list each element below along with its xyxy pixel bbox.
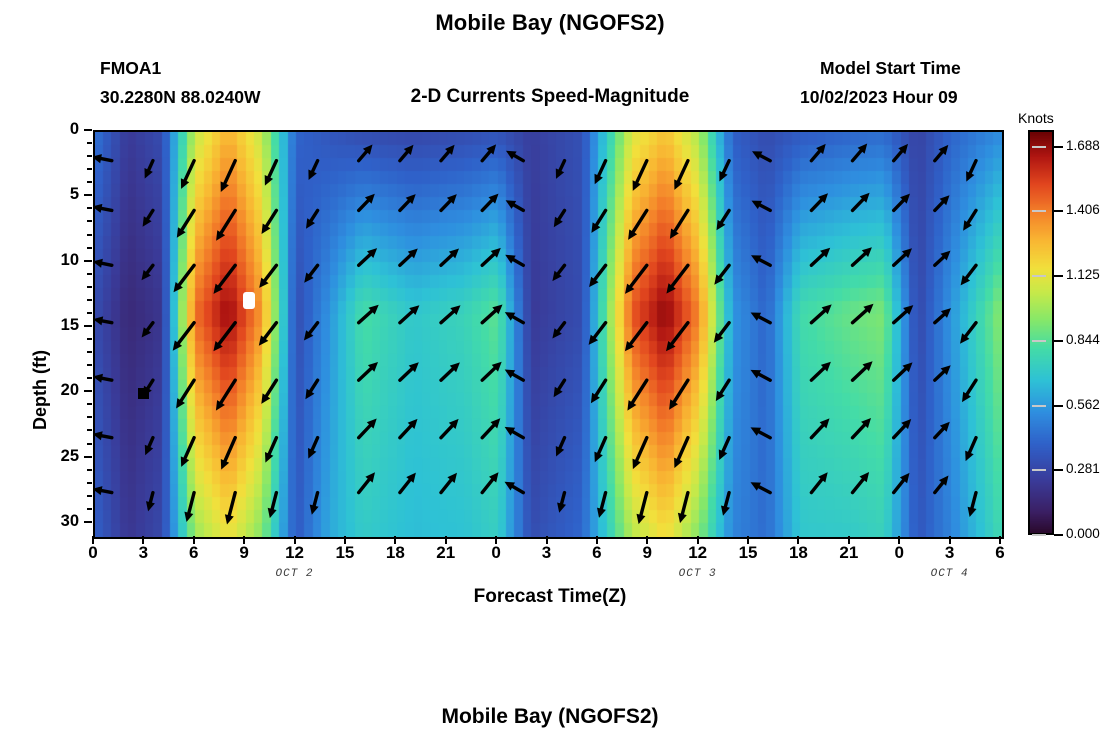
x-tick-label: 21 [426,543,466,563]
colorbar-tick [1054,405,1063,407]
colorbar-units-label: Knots [1018,110,1098,126]
y-tick [87,207,92,209]
y-tick-label: 25 [33,447,79,466]
footer-title: Mobile Bay (NGOFS2) [0,705,1100,729]
colorbar-tick-inner [1032,210,1046,212]
colorbar-tick [1054,275,1063,277]
y-tick [84,194,92,196]
colorbar-tick-label: 0.562 [1066,397,1100,412]
colorbar-tick [1054,210,1063,212]
x-tick-label: 6 [980,543,1020,563]
colorbar-gradient [1028,130,1054,535]
colorbar-tick [1054,340,1063,342]
y-tick-label: 10 [33,251,79,270]
x-tick-label: 9 [627,543,667,563]
current-vector-arrows [95,132,1002,537]
y-tick-label: 5 [33,185,79,204]
x-tick-label: 18 [375,543,415,563]
y-tick [87,338,92,340]
x-tick-label: 21 [829,543,869,563]
x-tick-label: 15 [728,543,768,563]
data-gap-patch [243,292,255,309]
observation-marker [138,388,149,399]
colorbar-tick-inner [1032,146,1046,148]
x-tick-label: 9 [224,543,264,563]
page-title: Mobile Bay (NGOFS2) [0,10,1100,36]
y-tick [84,521,92,523]
y-tick [87,234,92,236]
y-tick-label: 30 [33,512,79,531]
colorbar-tick [1054,534,1063,536]
y-tick [87,155,92,157]
colorbar [1028,130,1054,535]
colorbar-tick-inner [1032,469,1046,471]
y-axis-title: Depth (ft) [30,350,51,430]
y-tick [87,482,92,484]
y-tick [84,325,92,327]
y-tick [87,220,92,222]
y-tick [87,142,92,144]
colorbar-tick-label: 1.125 [1066,267,1100,282]
y-tick [87,416,92,418]
x-tick-label: 3 [930,543,970,563]
y-tick [84,129,92,131]
x-axis-title: Forecast Time(Z) [0,586,1100,608]
colorbar-tick-inner [1032,534,1046,536]
x-tick-label: 12 [275,543,315,563]
x-tick-label: 6 [577,543,617,563]
model-start-time-label: Model Start Time [820,58,961,79]
chart-page: Mobile Bay (NGOFS2) FMOA1 30.2280N 88.02… [0,0,1100,750]
y-tick [87,351,92,353]
colorbar-tick-inner [1032,340,1046,342]
y-tick [87,273,92,275]
x-tick-label: 3 [123,543,163,563]
colorbar-tick-label: 0.844 [1066,332,1100,347]
colorbar-tick-label: 1.688 [1066,138,1100,153]
y-tick [87,299,92,301]
x-tick-label: 18 [778,543,818,563]
y-tick [84,260,92,262]
y-tick [87,247,92,249]
y-tick [87,312,92,314]
station-id-label: FMOA1 [100,58,161,79]
colorbar-tick-label: 0.000 [1066,526,1100,541]
y-tick [87,403,92,405]
model-start-time-value: 10/02/2023 Hour 09 [800,87,958,108]
y-tick [87,469,92,471]
colorbar-tick [1054,469,1063,471]
y-tick [84,456,92,458]
colorbar-tick-label: 0.281 [1066,461,1100,476]
colorbar-tick-inner [1032,405,1046,407]
y-tick [87,168,92,170]
y-tick [87,429,92,431]
colorbar-tick-inner [1032,275,1046,277]
x-day-label: OCT 4 [910,568,990,580]
x-tick-label: 12 [678,543,718,563]
y-tick [87,443,92,445]
x-tick-label: 0 [879,543,919,563]
x-tick-label: 3 [527,543,567,563]
x-day-label: OCT 3 [658,568,738,580]
y-tick [84,390,92,392]
colorbar-tick [1054,146,1063,148]
plot-inner [95,132,1002,537]
y-tick [87,181,92,183]
y-tick [87,377,92,379]
y-tick-label: 15 [33,316,79,335]
y-tick-label: 0 [33,120,79,139]
y-tick [87,508,92,510]
x-tick-label: 15 [325,543,365,563]
y-tick [87,286,92,288]
x-tick-label: 0 [476,543,516,563]
y-tick [87,495,92,497]
x-day-label: OCT 2 [255,568,335,580]
x-tick-label: 0 [73,543,113,563]
plot-area [93,130,1004,539]
y-tick [87,364,92,366]
x-tick-label: 6 [174,543,214,563]
colorbar-tick-label: 1.406 [1066,202,1100,217]
